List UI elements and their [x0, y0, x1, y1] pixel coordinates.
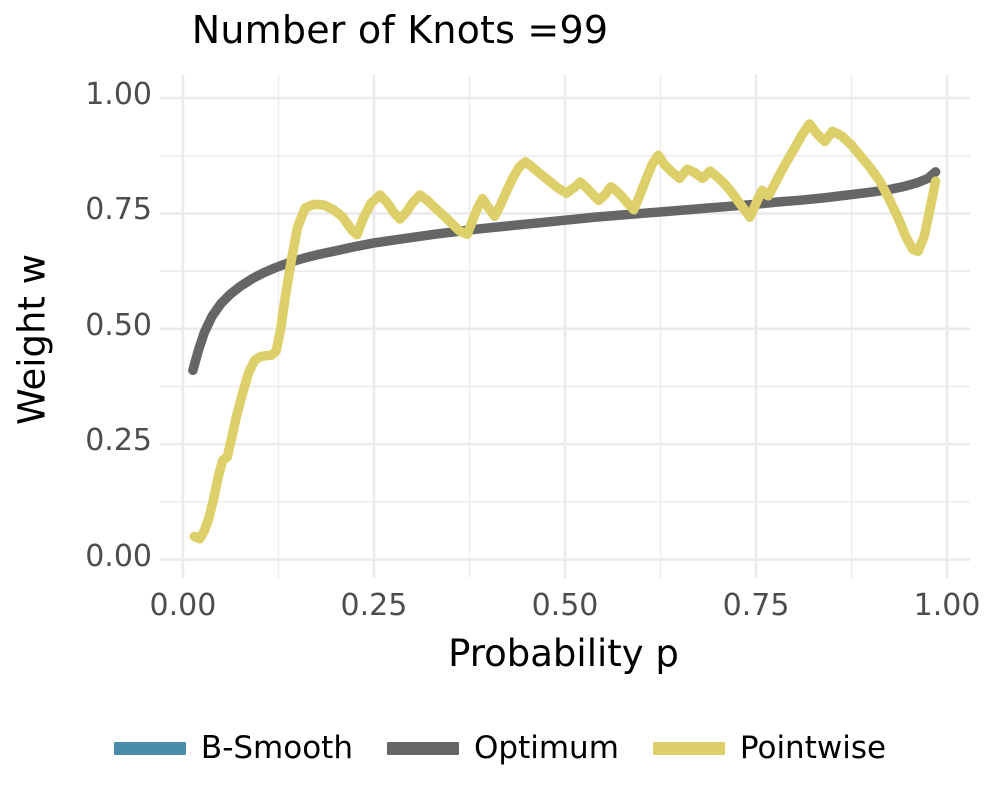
- legend-item-pointwise[interactable]: Pointwise: [653, 733, 886, 764]
- x-tick-label: 0.00: [103, 588, 263, 623]
- x-axis-tick-labels: 0.000.250.500.751.00: [0, 588, 1000, 632]
- legend-key-swatch-icon: [387, 742, 459, 755]
- legend-item-label: B-Smooth: [201, 733, 353, 764]
- y-tick-label: 0.00: [52, 539, 152, 574]
- legend-item-optimum[interactable]: Optimum: [387, 733, 619, 764]
- legend-item-label: Pointwise: [740, 733, 886, 764]
- y-tick-label: 1.00: [52, 77, 152, 112]
- x-axis-title: Probability p: [173, 632, 954, 675]
- plot-area: [160, 75, 970, 578]
- plot-panel: [160, 75, 970, 578]
- x-tick-label: 0.50: [485, 588, 645, 623]
- y-tick-label: 0.50: [52, 308, 152, 343]
- legend-key-swatch-icon: [653, 742, 725, 755]
- legend: B-SmoothOptimumPointwise: [0, 720, 1000, 776]
- chart-root: Number of Knots =99 Weight w Probability…: [0, 0, 1000, 800]
- legend-key-swatch-icon: [114, 742, 186, 755]
- x-tick-label: 0.75: [676, 588, 836, 623]
- y-axis-tick-labels: 0.000.250.500.751.00: [40, 0, 152, 800]
- x-tick-label: 1.00: [867, 588, 1000, 623]
- y-tick-label: 0.25: [52, 423, 152, 458]
- x-tick-label: 0.25: [294, 588, 454, 623]
- legend-item-label: Optimum: [474, 733, 619, 764]
- legend-item-b-smooth[interactable]: B-Smooth: [114, 733, 353, 764]
- y-tick-label: 0.75: [52, 192, 152, 227]
